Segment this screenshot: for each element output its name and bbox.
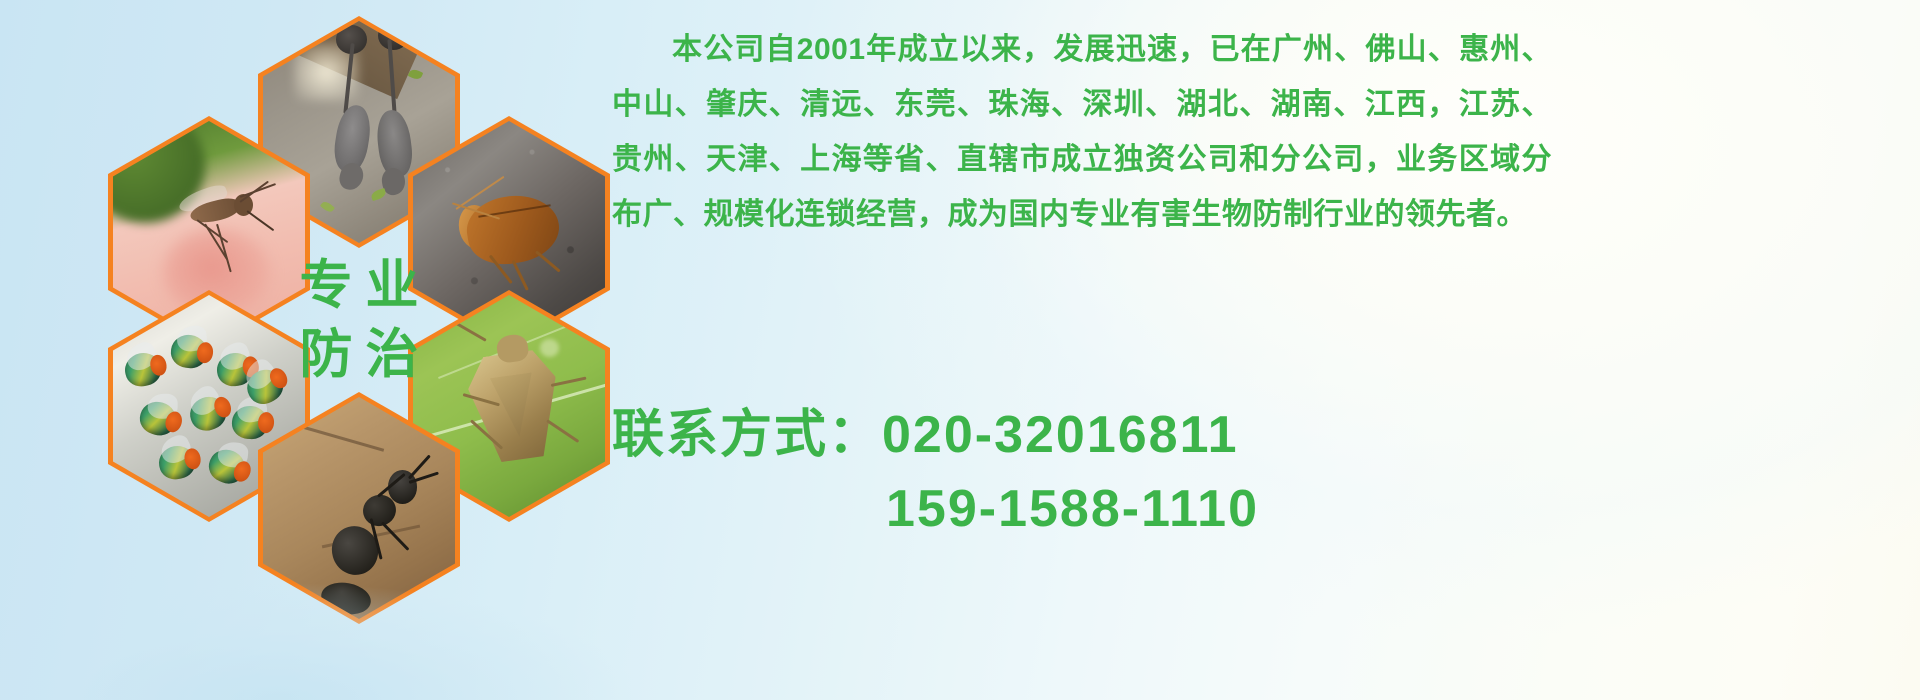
contact-block: 联系方式：020-32016811 159-1588-1110 [612,398,1572,546]
contact-phone-mobile[interactable]: 159-1588-1110 [612,472,1572,546]
company-intro-paragraph: 本公司自2001年成立以来，发展迅速，已在广州、佛山、惠州、中山、肇庆、清远、东… [612,22,1552,242]
slogan-line-1: 专业 [287,259,432,312]
company-intro-block: 本公司自2001年成立以来，发展迅速，已在广州、佛山、惠州、中山、肇庆、清远、东… [612,22,1552,242]
hexagon-cluster: 专业 防治 [86,4,586,564]
banner-root: 专业 防治 本公司自2001年成立以来，发展迅速，已在广州、佛山、惠州、中山、肇… [0,0,1920,700]
slogan-line-2: 防治 [287,328,432,381]
contact-phone-primary[interactable]: 联系方式：020-32016811 [612,398,1572,472]
